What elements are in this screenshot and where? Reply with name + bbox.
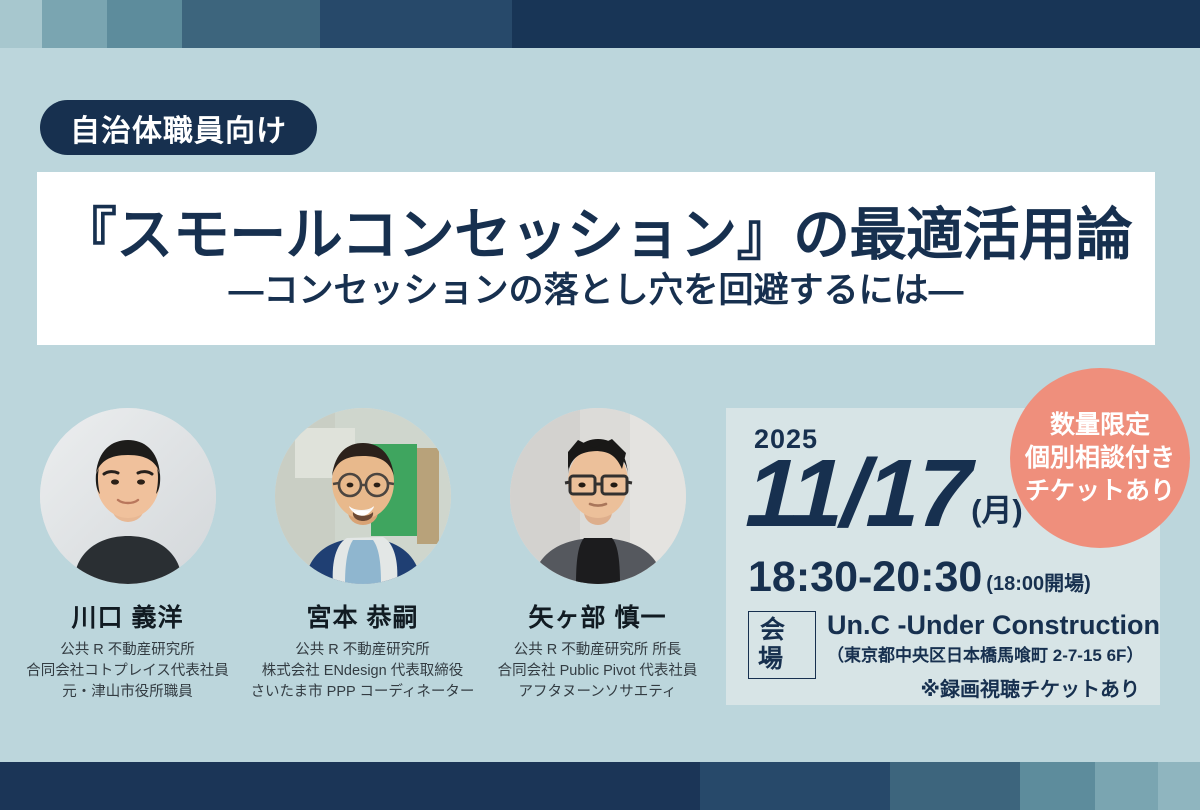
badge-line-2: 個別相談付き: [1025, 442, 1175, 475]
speaker-card: 矢ヶ部 慎一 公共 R 不動産研究所 所長合同会社 Public Pivot 代…: [480, 408, 715, 703]
page-title: 『スモールコンセッション』の最適活用論: [60, 206, 1132, 266]
event-month-day: 11/17: [744, 450, 970, 538]
page-subtitle: ―コンセッションの落とし穴を回避するには―: [228, 272, 963, 311]
speaker-affiliation: 公共 R 不動産研究所合同会社コトプレイス代表社員元・津山市役所職員: [26, 640, 229, 703]
venue-text: Un.C -Under Construction （東京都中央区日本橋馬喰町 2…: [827, 611, 1160, 666]
title-card: 『スモールコンセッション』の最適活用論 ―コンセッションの落とし穴を回避するには…: [37, 172, 1155, 345]
speaker-card: 宮本 恭嗣 公共 R 不動産研究所株式会社 ENdesign 代表取締役さいたま…: [245, 408, 480, 703]
stripe-segment: [1158, 762, 1200, 810]
avatar: [40, 408, 216, 584]
stripe-segment: [0, 0, 42, 48]
audience-tag: 自治体職員向け: [40, 100, 317, 155]
event-day-of-week: (月): [971, 485, 1023, 538]
top-stripe-band: [0, 0, 1200, 48]
venue-name: Un.C -Under Construction: [827, 611, 1160, 639]
event-time-row: 18:30-20:30 (18:00開場): [748, 556, 1091, 599]
avatar: [510, 408, 686, 584]
speaker-list: 川口 義洋 公共 R 不動産研究所合同会社コトプレイス代表社員元・津山市役所職員: [10, 408, 716, 703]
event-date: 11/17 (月): [746, 450, 1023, 538]
speaker-name: 矢ヶ部 慎一: [529, 598, 667, 634]
speaker-name: 宮本 恭嗣: [307, 598, 419, 634]
stripe-segment: [320, 0, 512, 48]
event-poster: 自治体職員向け 『スモールコンセッション』の最適活用論 ―コンセッションの落とし…: [0, 0, 1200, 810]
speaker-card: 川口 義洋 公共 R 不動産研究所合同会社コトプレイス代表社員元・津山市役所職員: [10, 408, 245, 703]
stripe-segment: [0, 762, 700, 810]
recording-note: ※録画視聴チケットあり: [921, 673, 1140, 702]
speaker-affiliation: 公共 R 不動産研究所株式会社 ENdesign 代表取締役さいたま市 PPP …: [251, 640, 475, 703]
stripe-segment: [890, 762, 1020, 810]
stripe-segment: [42, 0, 107, 48]
avatar: [275, 408, 451, 584]
speaker-affiliation: 公共 R 不動産研究所 所長合同会社 Public Pivot 代表社員アフタヌ…: [498, 640, 698, 703]
stripe-segment: [1020, 762, 1095, 810]
limited-ticket-badge: 数量限定 個別相談付き チケットあり: [1010, 368, 1190, 548]
venue-row: 会 場 Un.C -Under Construction （東京都中央区日本橋馬…: [748, 611, 1160, 679]
stripe-segment: [1095, 762, 1158, 810]
stripe-segment: [512, 0, 1200, 48]
stripe-segment: [182, 0, 320, 48]
event-open-time: (18:00開場): [986, 567, 1090, 599]
venue-label-chip: 会 場: [748, 611, 816, 679]
stripe-segment: [107, 0, 182, 48]
badge-line-3: チケットあり: [1025, 475, 1175, 508]
audience-tag-label: 自治体職員向け: [70, 106, 287, 150]
stripe-segment: [700, 762, 890, 810]
speaker-name: 川口 義洋: [72, 598, 184, 634]
event-time: 18:30-20:30: [748, 556, 982, 599]
bottom-stripe-band: [0, 762, 1200, 810]
venue-address: （東京都中央区日本橋馬喰町 2-7-15 6F）: [827, 641, 1160, 666]
badge-line-1: 数量限定: [1050, 409, 1150, 442]
